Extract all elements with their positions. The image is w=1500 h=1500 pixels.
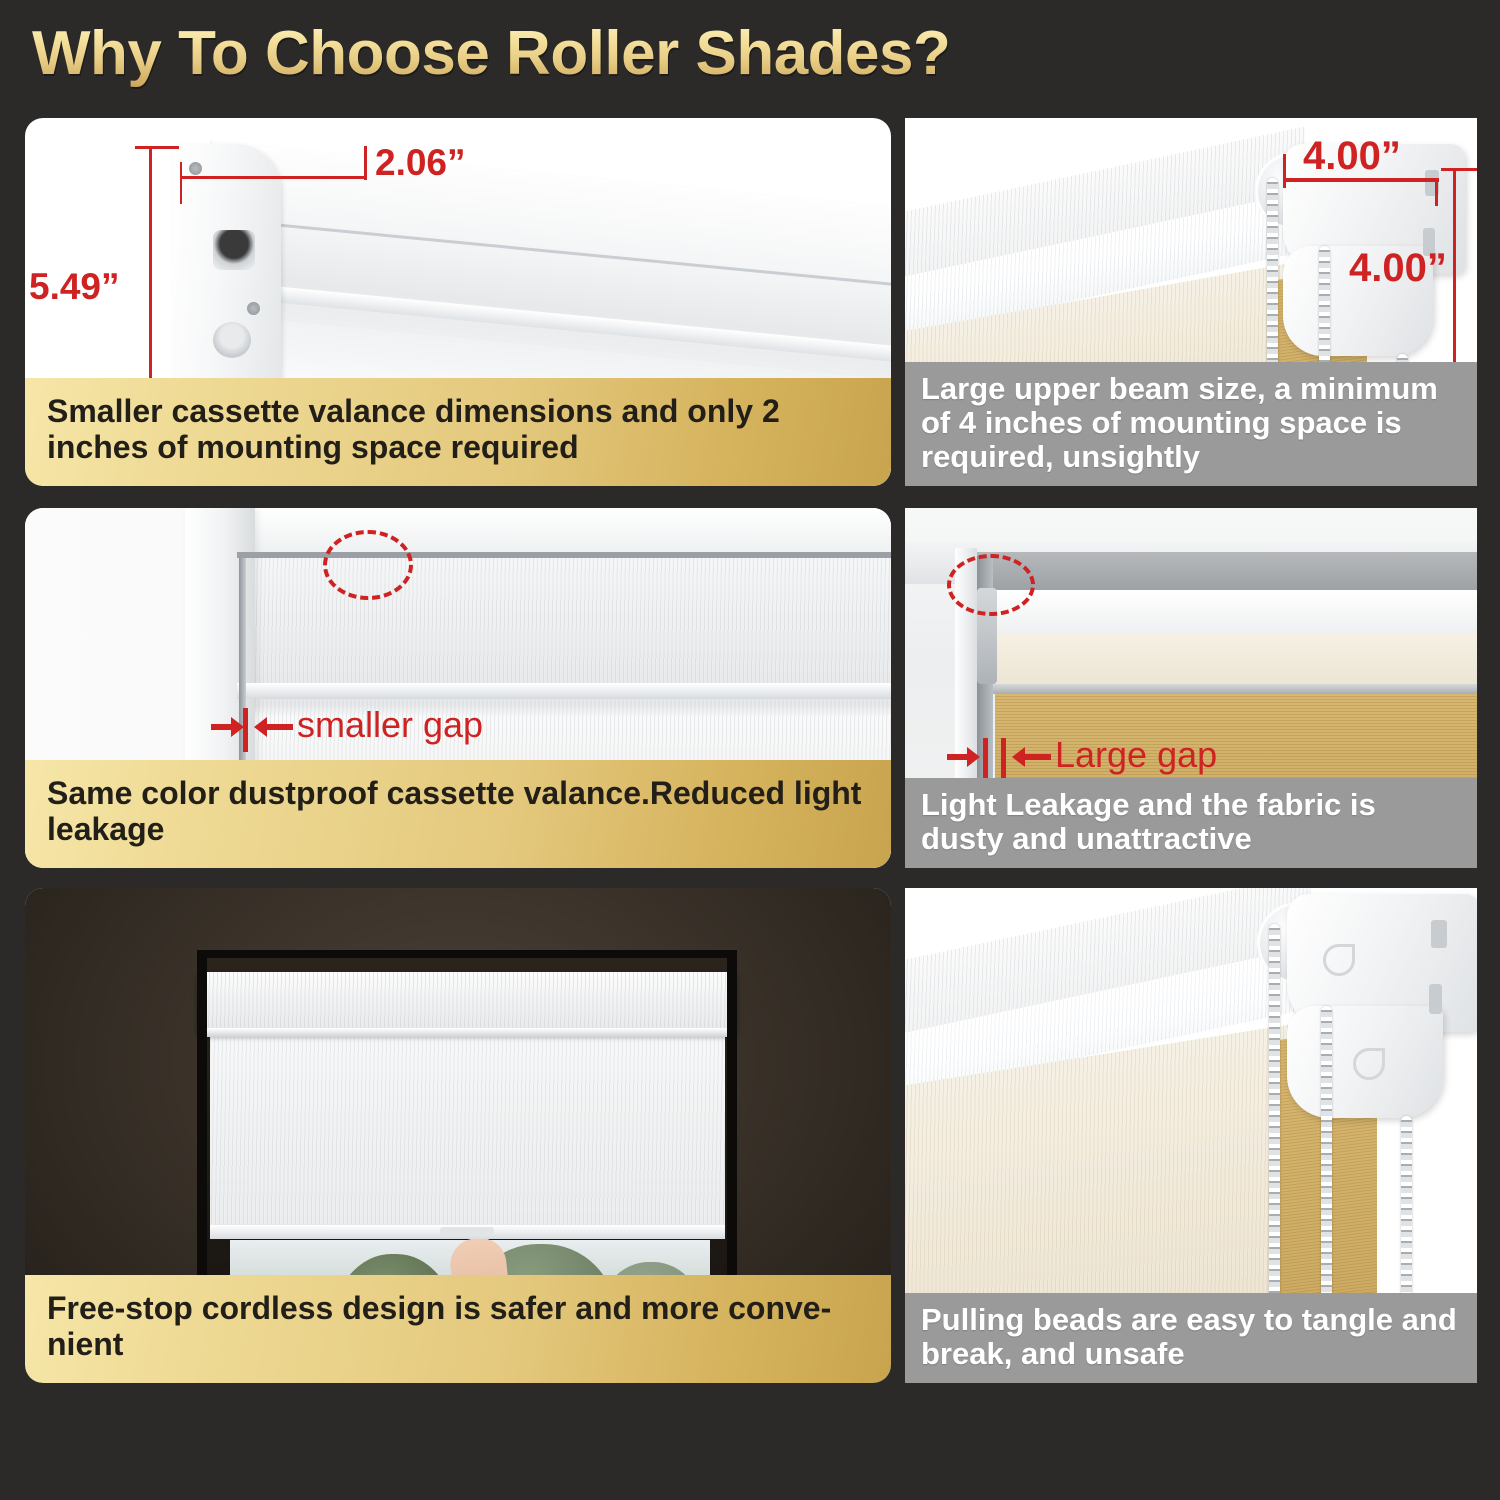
dim-tick-left xyxy=(180,162,182,204)
dimension-label-width: 2.06” xyxy=(375,142,466,184)
gap-marker xyxy=(1001,738,1006,782)
panel-large-upper-beam: 4.00” 4.00” Large upper beam size, a min… xyxy=(905,118,1477,486)
gap-callout-label: smaller gap xyxy=(297,704,483,746)
arrow-left-icon xyxy=(253,714,293,740)
panel-caption: Pulling beads are easy to tangle and bre… xyxy=(905,1293,1477,1383)
arrow-left-icon xyxy=(1011,744,1051,770)
dim-tick-left xyxy=(1283,154,1286,188)
panel-dustproof-valance: smaller gap Same color dustproof cassett… xyxy=(25,508,891,868)
dimension-label-height: 5.49” xyxy=(29,266,120,308)
screw-icon xyxy=(247,302,260,315)
panel-cordless-design: Free-stop cordless design is safer and m… xyxy=(25,888,891,1383)
panel-caption: Large upper beam size, a minimum of 4 in… xyxy=(905,362,1477,486)
dim-tick-right xyxy=(364,146,367,180)
fabric-edge-shadow xyxy=(957,684,1477,694)
dim-line-height xyxy=(1453,168,1456,380)
panel-caption: Light Leakage and the fabric is dusty an… xyxy=(905,778,1477,868)
panel-pulling-beads: Pulling beads are easy to tangle and bre… xyxy=(905,888,1477,1383)
shade-fabric xyxy=(210,1037,725,1237)
dim-tick-top xyxy=(1441,168,1477,171)
page-title: Why To Choose Roller Shades? xyxy=(32,18,950,89)
dim-tick-right xyxy=(1435,178,1438,206)
dim-tick-top xyxy=(135,146,179,149)
window-frame-top xyxy=(197,950,737,958)
cassette-valance xyxy=(197,972,737,1034)
bracket-arrow-emboss-icon xyxy=(1323,944,1355,976)
panel-smaller-cassette: 2.06” 5.49” Smaller cassette valance dim… xyxy=(25,118,891,486)
dimension-label-width: 4.00” xyxy=(1303,134,1401,179)
screw-icon xyxy=(189,162,202,175)
gap-callout-label: Large gap xyxy=(1055,734,1217,776)
panel-caption: Smaller cassette valance dimensions and … xyxy=(25,378,891,486)
valance-lip xyxy=(199,1028,735,1037)
gap-marker xyxy=(983,738,988,782)
bracket-slot-icon xyxy=(213,230,255,270)
panel-caption: Same color dustproof cassette valance.Re… xyxy=(25,760,891,868)
arrow-right-icon xyxy=(211,714,245,740)
cassette-bottom-rail xyxy=(237,683,891,699)
bracket-notch-icon xyxy=(1429,984,1442,1014)
gap-highlight-circle xyxy=(323,530,413,600)
dimension-label-height: 4.00” xyxy=(1349,246,1447,291)
bracket-clip-icon xyxy=(213,322,251,358)
cream-fabric-top xyxy=(957,634,1477,686)
gap-highlight-circle xyxy=(947,554,1035,616)
panel-caption: Free-stop cordless design is safer and m… xyxy=(25,1275,891,1383)
panel-light-leakage: Large gap Light Leakage and the fabric i… xyxy=(905,508,1477,868)
arrow-right-icon xyxy=(947,744,981,770)
bracket-arrow-emboss-icon xyxy=(1353,1048,1385,1080)
hem-grip-handle xyxy=(440,1227,494,1235)
valance-end-cap xyxy=(173,144,281,394)
bracket-notch-icon xyxy=(1431,920,1447,948)
dim-line-width xyxy=(180,176,366,179)
